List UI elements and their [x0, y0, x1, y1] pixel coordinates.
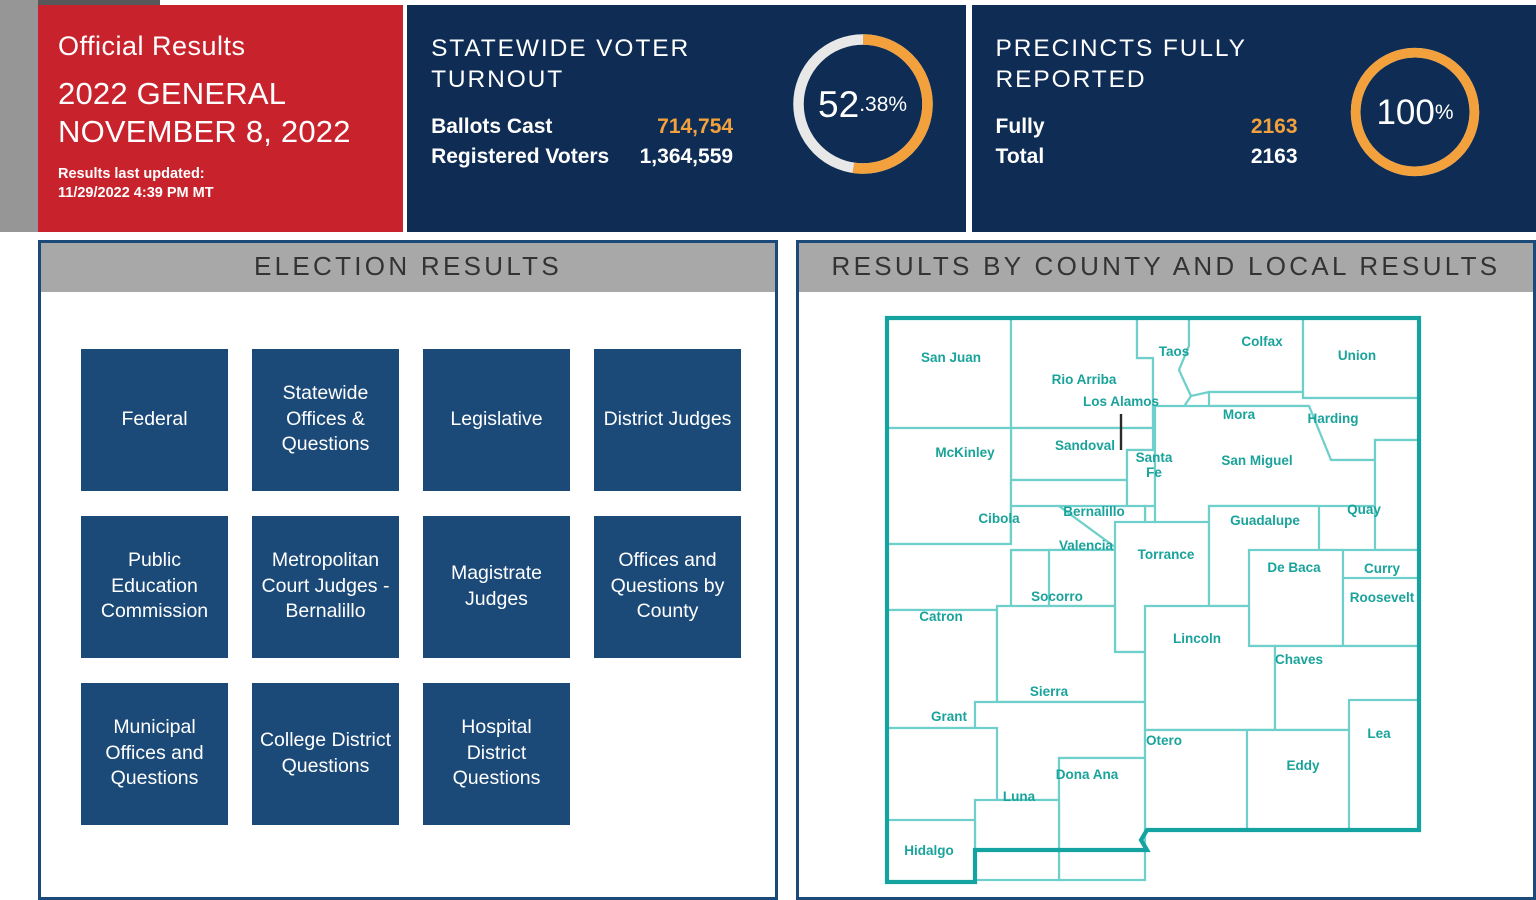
county-label[interactable]: Lincoln: [1173, 631, 1221, 646]
county-label[interactable]: Rio Arriba: [1052, 372, 1117, 387]
election-category-button[interactable]: College District Questions: [252, 683, 399, 825]
county-label[interactable]: Socorro: [1031, 589, 1083, 604]
election-title: 2022 GENERAL NOVEMBER 8, 2022: [58, 75, 403, 151]
election-category-button[interactable]: Legislative: [423, 349, 570, 491]
county-shape-lea[interactable]: [1349, 700, 1419, 830]
county-label[interactable]: San Juan: [921, 350, 981, 365]
county-label[interactable]: Colfax: [1241, 334, 1283, 349]
county-label[interactable]: Catron: [919, 609, 963, 624]
election-category-button[interactable]: Offices and Questions by County: [594, 516, 741, 658]
precincts-fully-label: Fully: [996, 112, 1176, 142]
new-mexico-county-map-svg[interactable]: San JuanRio ArribaTaosColfaxUnionLos Ala…: [839, 310, 1479, 890]
precincts-total-label: Total: [996, 142, 1176, 172]
election-category-button[interactable]: Federal: [81, 349, 228, 491]
precincts-percent-whole: 100: [1376, 95, 1434, 130]
precincts-fully-value: 2163: [1176, 112, 1298, 142]
official-results-panel: Official Results 2022 GENERAL NOVEMBER 8…: [38, 5, 403, 232]
election-category-button[interactable]: Magistrate Judges: [423, 516, 570, 658]
county-label[interactable]: Los Alamos: [1083, 394, 1159, 409]
turnout-stats: Ballots Cast 714,754 Registered Voters 1…: [431, 112, 787, 172]
county-results-body: San JuanRio ArribaTaosColfaxUnionLos Ala…: [799, 292, 1533, 897]
county-shape-quay[interactable]: [1375, 440, 1419, 550]
precincts-percent: 100%: [1346, 43, 1484, 181]
county-label[interactable]: Luna: [1003, 789, 1036, 804]
turnout-row-ballots-cast: Ballots Cast 714,754: [431, 112, 787, 142]
precincts-donut-chart: 100%: [1346, 43, 1484, 181]
county-label[interactable]: Chaves: [1275, 652, 1323, 667]
county-label[interactable]: Quay: [1347, 502, 1381, 517]
county-label[interactable]: De Baca: [1267, 560, 1321, 575]
precincts-heading: PRECINCTS FULLY REPORTED: [996, 33, 1346, 96]
precincts-total-value: 2163: [1176, 142, 1298, 172]
last-updated-value: 11/29/2022 4:39 PM MT: [58, 184, 403, 203]
election-category-button[interactable]: District Judges: [594, 349, 741, 491]
county-shape-luna[interactable]: [975, 800, 1059, 880]
county-label[interactable]: Dona Ana: [1056, 767, 1119, 782]
county-shape-roosevelt[interactable]: [1343, 578, 1419, 646]
election-category-button[interactable]: Hospital District Questions: [423, 683, 570, 825]
county-label[interactable]: Torrance: [1138, 547, 1195, 562]
election-results-card: ELECTION RESULTS FederalStatewide Office…: [38, 240, 778, 900]
election-category-button[interactable]: Statewide Offices & Questions: [252, 349, 399, 491]
turnout-percent-fraction: .38%: [859, 94, 907, 115]
county-shape-colfax[interactable]: [1179, 318, 1303, 396]
county-label[interactable]: Sandoval: [1055, 438, 1115, 453]
election-category-button[interactable]: Metropolitan Court Judges - Bernalillo: [252, 516, 399, 658]
turnout-percent-whole: 52: [818, 86, 859, 123]
precincts-stats: Fully 2163 Total 2163: [996, 112, 1346, 172]
statewide-turnout-panel: STATEWIDE VOTER TURNOUT Ballots Cast 714…: [407, 5, 965, 232]
precincts-row-fully: Fully 2163: [996, 112, 1346, 142]
left-gray-rail: [0, 0, 38, 232]
county-label[interactable]: Cibola: [978, 511, 1020, 526]
precincts-reported-panel: PRECINCTS FULLY REPORTED Fully 2163 Tota…: [972, 5, 1536, 232]
county-label[interactable]: Valencia: [1059, 538, 1114, 553]
county-label[interactable]: Mora: [1223, 407, 1256, 422]
county-shape-san-juan[interactable]: [887, 318, 1011, 428]
registered-voters-label: Registered Voters: [431, 142, 611, 172]
turnout-heading: STATEWIDE VOTER TURNOUT: [431, 33, 787, 96]
county-label[interactable]: Lea: [1367, 726, 1391, 741]
county-results-title: RESULTS BY COUNTY AND LOCAL RESULTS: [799, 243, 1533, 292]
ballots-cast-label: Ballots Cast: [431, 112, 611, 142]
election-category-grid: FederalStatewide Offices & QuestionsLegi…: [41, 292, 775, 825]
election-category-button[interactable]: Public Education Commission: [81, 516, 228, 658]
county-label[interactable]: Sierra: [1030, 684, 1069, 699]
county-label[interactable]: Otero: [1146, 733, 1182, 748]
county-label[interactable]: Union: [1338, 348, 1376, 363]
content-area: ELECTION RESULTS FederalStatewide Office…: [38, 240, 1536, 900]
turnout-row-registered-voters: Registered Voters 1,364,559: [431, 142, 787, 172]
dashboard-page: Official Results 2022 GENERAL NOVEMBER 8…: [0, 0, 1536, 900]
election-category-button[interactable]: Municipal Offices and Questions: [81, 683, 228, 825]
registered-voters-value: 1,364,559: [611, 142, 733, 172]
county-label[interactable]: Harding: [1307, 411, 1358, 426]
election-results-title: ELECTION RESULTS: [41, 243, 775, 292]
county-label[interactable]: Bernalillo: [1063, 504, 1125, 519]
last-updated-label: Results last updated:: [58, 165, 403, 184]
grid-empty-cell: [594, 683, 741, 825]
county-label[interactable]: Eddy: [1286, 758, 1319, 773]
county-label[interactable]: Guadalupe: [1230, 513, 1300, 528]
county-results-card: RESULTS BY COUNTY AND LOCAL RESULTS: [796, 240, 1536, 900]
county-label[interactable]: Hidalgo: [904, 843, 954, 858]
county-label[interactable]: Curry: [1364, 561, 1401, 576]
precincts-row-total: Total 2163: [996, 142, 1346, 172]
county-label[interactable]: Roosevelt: [1350, 590, 1415, 605]
precincts-percent-fraction: %: [1435, 102, 1454, 123]
turnout-percent: 52.38%: [788, 29, 938, 179]
county-label[interactable]: San Miguel: [1221, 453, 1292, 468]
official-results-label: Official Results: [58, 31, 403, 62]
turnout-donut-chart: 52.38%: [788, 29, 938, 179]
county-label[interactable]: Taos: [1159, 344, 1190, 359]
summary-band: Official Results 2022 GENERAL NOVEMBER 8…: [38, 5, 1536, 232]
ballots-cast-value: 714,754: [611, 112, 733, 142]
new-mexico-map[interactable]: San JuanRio ArribaTaosColfaxUnionLos Ala…: [799, 292, 1533, 890]
county-label[interactable]: McKinley: [935, 445, 995, 460]
election-results-body: FederalStatewide Offices & QuestionsLegi…: [41, 292, 775, 897]
county-label[interactable]: Grant: [931, 709, 968, 724]
